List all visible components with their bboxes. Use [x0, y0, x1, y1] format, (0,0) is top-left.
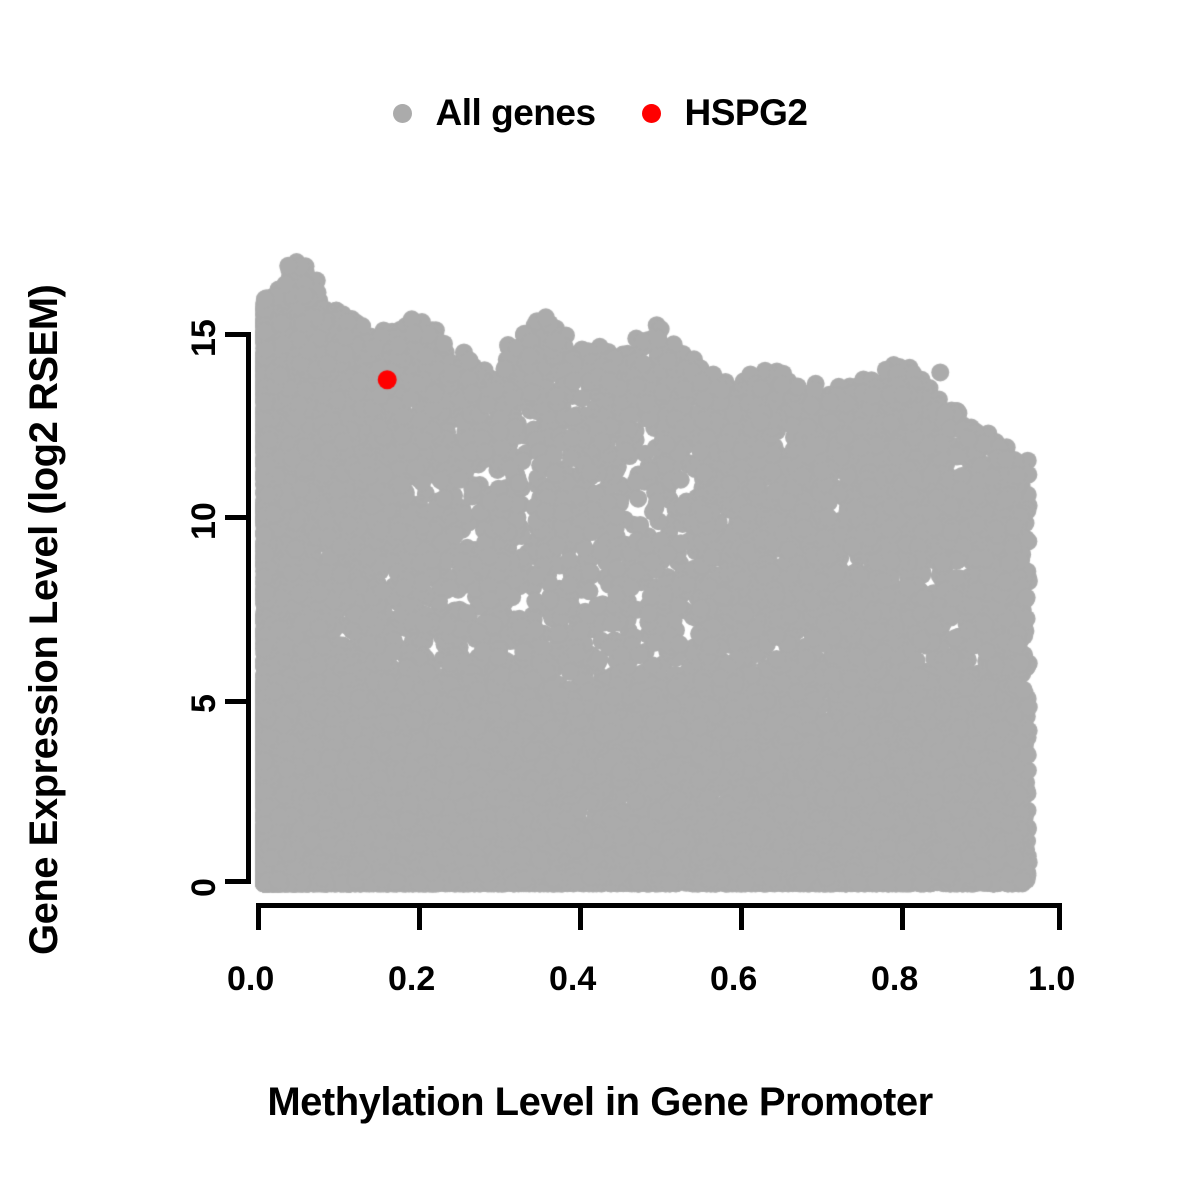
- y-axis-tick-10: [225, 515, 251, 520]
- scatter-points-layer: [0, 0, 1200, 1200]
- y-axis-tick-label-15: 15: [185, 319, 224, 357]
- x-axis-tick-0.0: [256, 903, 261, 930]
- y-axis-tick-label-10: 10: [185, 502, 224, 540]
- y-axis-tick-label-0: 0: [185, 878, 224, 897]
- x-axis-line: [256, 903, 1062, 908]
- x-axis-tick-label-0.8: 0.8: [871, 960, 918, 999]
- x-axis-tick-label-1.0: 1.0: [1028, 960, 1075, 999]
- x-axis-tick-label-0.4: 0.4: [549, 960, 596, 999]
- x-axis-tick-label-0.6: 0.6: [710, 960, 757, 999]
- scatter-plot-figure: All genes HSPG2 15 10 5 0 0.0 0.2 0.4 0.…: [0, 0, 1200, 1200]
- y-axis-tick-0: [225, 879, 251, 884]
- x-axis-title: Methylation Level in Gene Promoter: [0, 1080, 1200, 1125]
- y-axis-tick-label-5: 5: [185, 694, 224, 713]
- x-axis-tick-label-0.0: 0.0: [227, 960, 274, 999]
- y-axis-tick-15: [225, 332, 251, 337]
- y-axis-line: [246, 332, 251, 884]
- y-axis-tick-5: [225, 699, 251, 704]
- x-axis-tick-0.4: [578, 903, 583, 930]
- x-axis-tick-label-0.2: 0.2: [388, 960, 435, 999]
- x-axis-tick-0.8: [900, 903, 905, 930]
- y-axis-title: Gene Expression Level (log2 RSEM): [22, 285, 67, 955]
- x-axis-tick-0.6: [739, 903, 744, 930]
- x-axis-tick-1.0: [1057, 903, 1062, 930]
- x-axis-tick-0.2: [417, 903, 422, 930]
